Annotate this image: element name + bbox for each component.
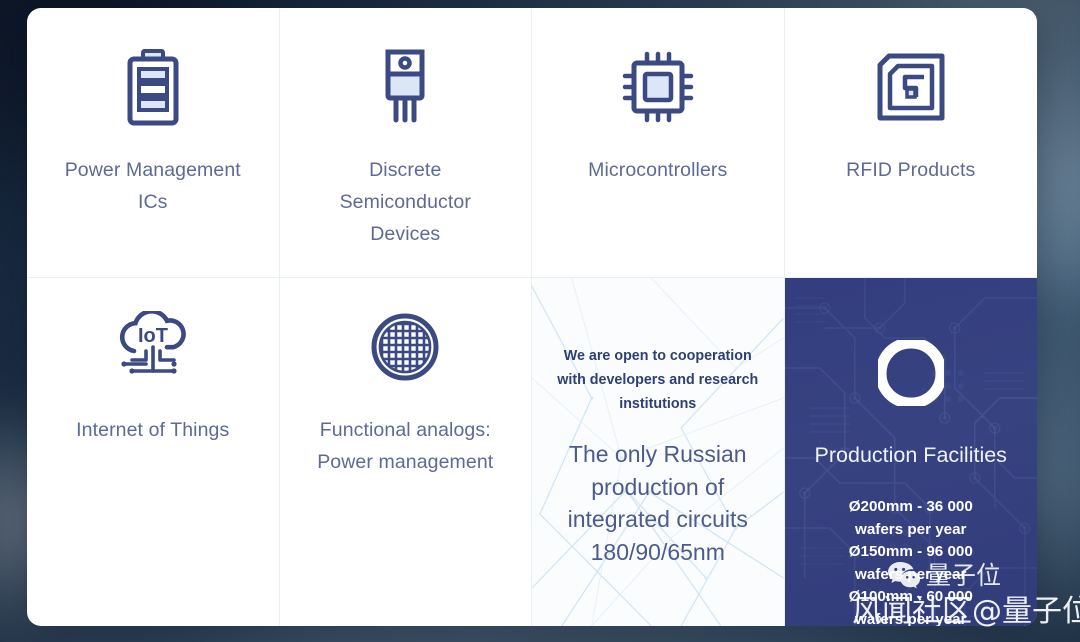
- grid-cell-label: Functional analogs:Power management: [317, 414, 493, 478]
- ring-logo-icon: [878, 332, 944, 414]
- grid-cell-internet-of-things[interactable]: IoT Internet of Things: [27, 278, 280, 626]
- wafer-grid-icon: [368, 306, 442, 388]
- grid-cell-power-management-ics[interactable]: Power ManagementICs: [27, 8, 280, 278]
- grid-cell-label: RFID Products: [846, 154, 975, 186]
- grid-cell-rfid-products[interactable]: RFID Products: [785, 8, 1038, 278]
- grid-cell-functional-analogs[interactable]: Functional analogs:Power management: [280, 278, 533, 626]
- iot-cloud-icon: IoT: [113, 306, 193, 388]
- rfid-tag-icon: [875, 46, 947, 128]
- battery-icon: [121, 46, 185, 128]
- grid-cell-label: Power ManagementICs: [65, 154, 241, 218]
- grid-cell-microcontrollers[interactable]: Microcontrollers: [532, 8, 785, 278]
- cooperation-headline: The only Russian production of integrate…: [558, 438, 758, 568]
- grid-cell-label: Microcontrollers: [588, 154, 727, 186]
- grid-cell-label: DiscreteSemiconductorDevices: [340, 154, 471, 250]
- cooperation-kicker: We are open to cooperation with develope…: [554, 344, 762, 416]
- production-title: Production Facilities: [815, 440, 1007, 470]
- grid-cell-label: Internet of Things: [76, 414, 229, 446]
- product-grid-card: Power ManagementICs DiscreteSemiconducto…: [27, 8, 1037, 626]
- svg-text:IoT: IoT: [138, 325, 168, 347]
- grid-cell-production-facilities[interactable]: Production Facilities Ø200mm - 36 000waf…: [785, 278, 1038, 626]
- grid-cell-discrete-semiconductor[interactable]: DiscreteSemiconductorDevices: [280, 8, 533, 278]
- grid-cell-cooperation[interactable]: We are open to cooperation with develope…: [532, 278, 785, 626]
- production-stats: Ø200mm - 36 000wafers per yearØ150mm - 9…: [849, 496, 973, 626]
- transistor-icon: [374, 46, 436, 128]
- chip-icon: [621, 46, 695, 128]
